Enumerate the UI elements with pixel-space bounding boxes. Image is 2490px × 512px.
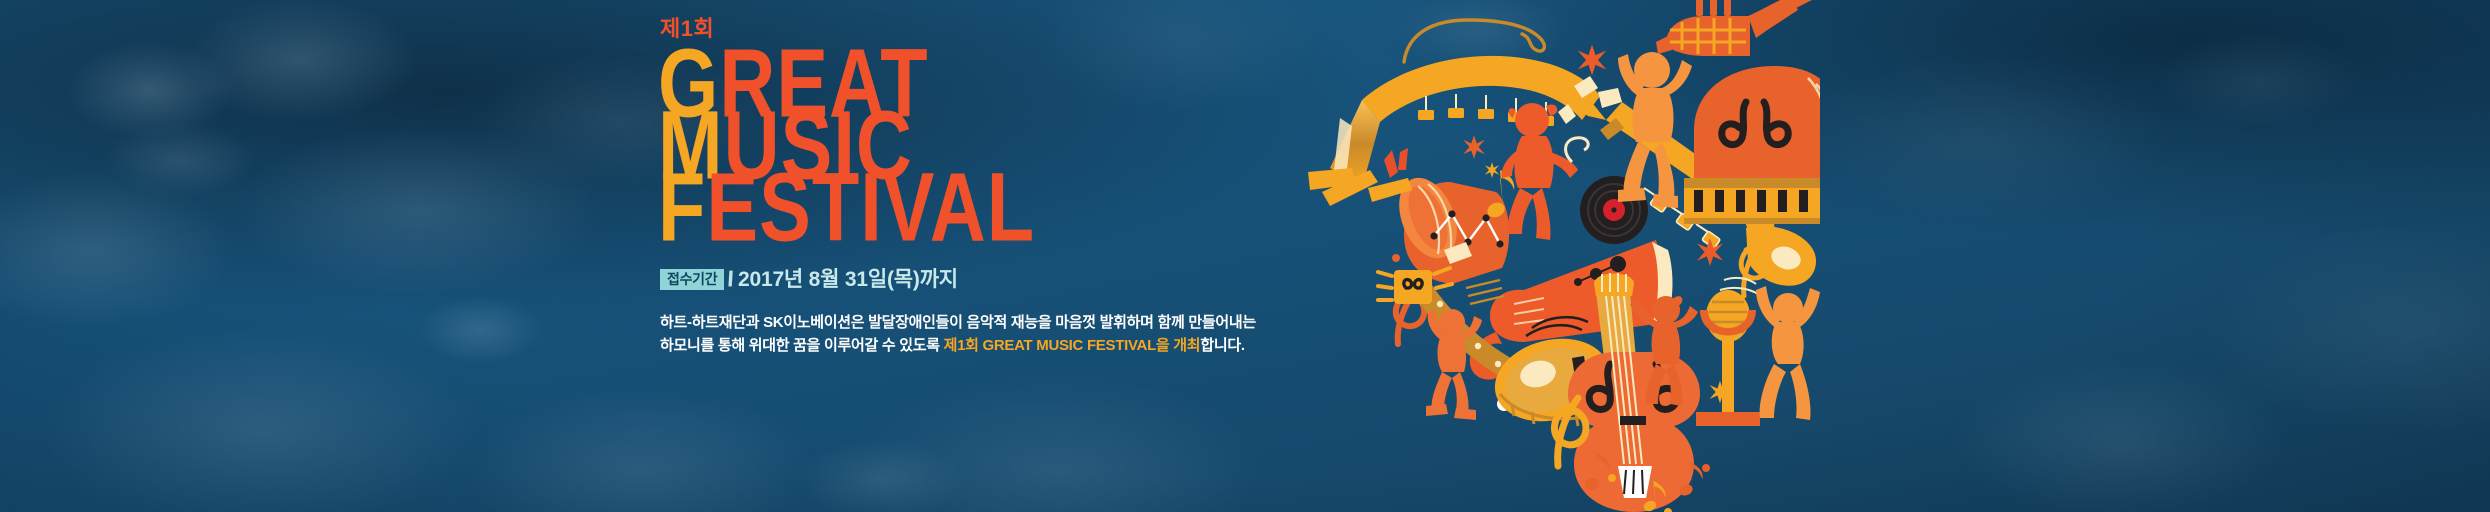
trumpet-icon <box>1656 0 1816 56</box>
submission-period-badge: 접수기간 <box>660 269 724 290</box>
double-slash-icon: \\ <box>725 269 732 290</box>
description-line-2-prefix: 하모니를 통해 위대한 꿈을 이루어갈 수 있도록 <box>660 337 944 354</box>
logo-capital-f: F <box>658 153 706 262</box>
description-line-2-suffix: 합니다. <box>1200 337 1244 354</box>
description-highlight: 제1회 GREAT MUSIC FESTIVAL을 개최 <box>944 337 1201 354</box>
grand-piano-icon <box>1684 66 1820 224</box>
clef-dot-icon <box>1392 254 1400 262</box>
horn-icon <box>1308 20 1622 206</box>
flute-icon <box>1566 138 1589 162</box>
submission-deadline-text: 2017년 8월 31일(목)까지 <box>738 269 958 290</box>
great-music-festival-banner: 제1회 GREAT MUSIC FESTIVAL 접수기간 \\ 2017년 8… <box>0 0 2490 512</box>
dancer-figure-icon <box>1756 286 1820 420</box>
microphone-icon <box>1696 290 1760 426</box>
note-dot-icon <box>1574 306 1582 314</box>
instrument-heart-collage <box>1300 0 1820 512</box>
sparkle-icon <box>1463 135 1499 178</box>
sparkle-icon <box>1578 45 1607 76</box>
logo-rest-festival: ESTIVAL <box>706 153 1035 262</box>
